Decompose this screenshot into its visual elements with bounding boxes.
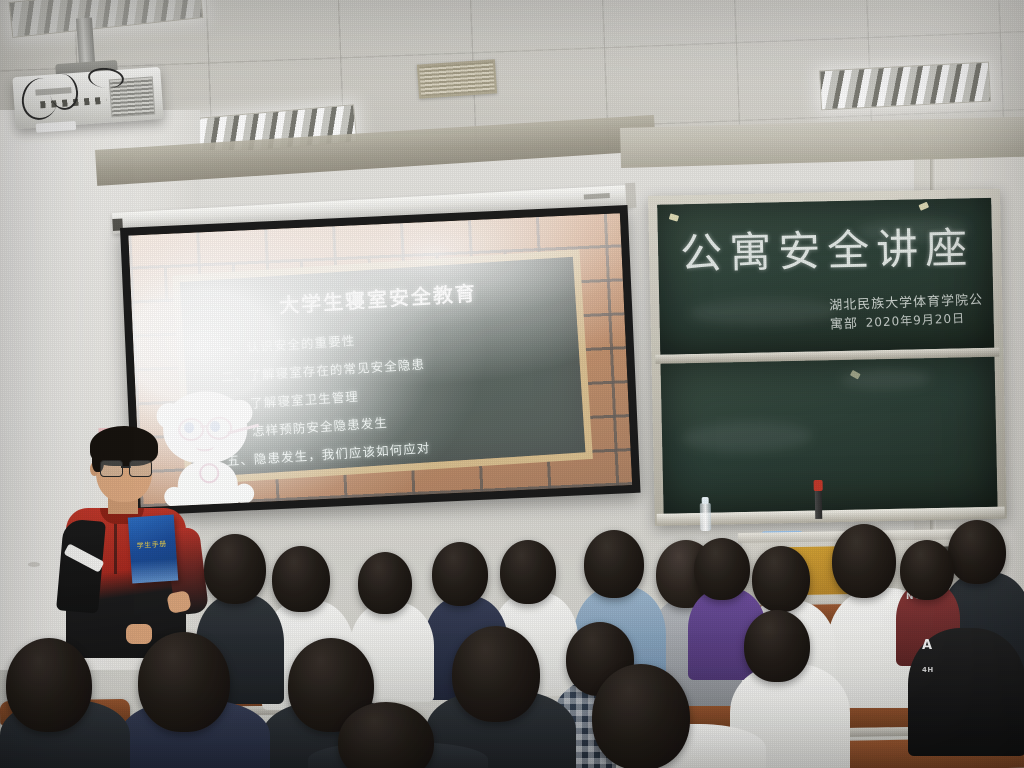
slide-title: 大学生寝室安全教育 bbox=[181, 270, 576, 324]
classroom-photo: 大学生寝室安全教育 一、认识安全的重要性 二、了解寝室存在的常见安全隐患 三、了… bbox=[0, 0, 1024, 768]
projected-slide: 大学生寝室安全教育 一、认识安全的重要性 二、了解寝室存在的常见安全隐患 三、了… bbox=[128, 213, 632, 507]
tracksuit-zipper bbox=[114, 516, 117, 574]
student-head bbox=[432, 542, 488, 606]
wall-mark bbox=[28, 562, 40, 567]
student-head bbox=[138, 632, 230, 732]
air-vent-icon bbox=[417, 59, 497, 98]
blackboard-headline: 公寓安全讲座 bbox=[680, 214, 975, 281]
student-head bbox=[832, 524, 896, 598]
student-head bbox=[584, 530, 644, 598]
student-head bbox=[948, 520, 1006, 584]
slide-agenda-list: 一、认识安全的重要性 二、了解寝室存在的常见安全隐患 三、了解寝室卫生管理 四、… bbox=[219, 317, 566, 479]
handbook-title: 学生手册 bbox=[136, 539, 167, 551]
student-head bbox=[338, 702, 434, 768]
chalk-piece bbox=[918, 202, 929, 211]
student-head bbox=[694, 538, 750, 600]
blackboard-lower-panel bbox=[661, 357, 998, 514]
student-handbook[interactable]: 学生手册 bbox=[128, 514, 178, 583]
student-head bbox=[752, 546, 810, 612]
student-body: A 4H bbox=[908, 628, 1024, 756]
shirt-logo-text: A bbox=[922, 638, 933, 653]
student-head bbox=[500, 540, 556, 604]
shirt-logo-subtext: 4H bbox=[922, 666, 934, 674]
chalk-piece bbox=[669, 213, 679, 221]
student-head bbox=[358, 552, 412, 614]
student-head bbox=[6, 638, 92, 732]
student-head bbox=[452, 626, 540, 722]
student-head bbox=[592, 664, 690, 768]
student-head bbox=[744, 610, 810, 682]
student-head bbox=[900, 540, 954, 600]
presenter-left-hand bbox=[126, 624, 152, 644]
water-bottle[interactable] bbox=[700, 503, 711, 531]
screen-brand-mark bbox=[584, 193, 610, 199]
marker-pen[interactable] bbox=[815, 489, 823, 519]
blackboard: 公寓安全讲座 湖北民族大学体育学院公寓部 2020年9月20日 bbox=[648, 189, 1007, 526]
student-head bbox=[272, 546, 330, 612]
student-head bbox=[204, 534, 266, 604]
blackboard-upper-panel: 公寓安全讲座 湖北民族大学体育学院公寓部 2020年9月20日 bbox=[657, 198, 994, 355]
eyeglasses-icon bbox=[100, 460, 152, 475]
